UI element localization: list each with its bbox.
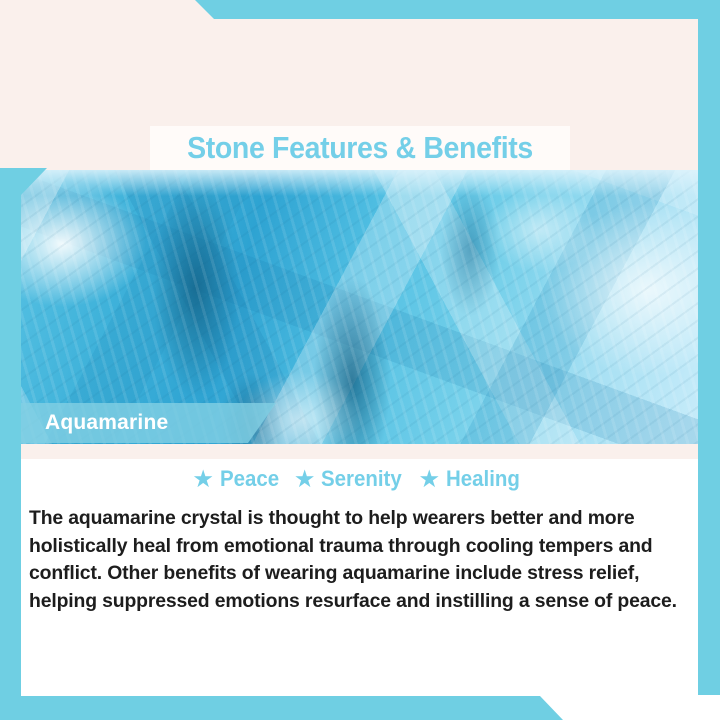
benefit-item-serenity: ★ Serenity <box>295 466 408 492</box>
section-separator <box>21 444 698 459</box>
frame-accent-bottom <box>0 696 720 720</box>
stone-name-band: Aquamarine <box>21 403 276 443</box>
benefit-label-serenity: Serenity <box>321 466 402 492</box>
page-title: Stone Features & Benefits <box>29 126 691 170</box>
crystal-hero-image: Aquamarine <box>0 170 720 444</box>
frame-accent-left <box>0 168 21 696</box>
hero-top-fade <box>0 170 720 196</box>
star-icon: ★ <box>420 469 439 490</box>
star-icon: ★ <box>295 469 314 490</box>
benefit-label-healing: Healing <box>446 466 520 492</box>
benefit-item-peace: ★ Peace <box>194 466 283 492</box>
star-icon: ★ <box>194 469 213 490</box>
stone-name-label: Aquamarine <box>21 411 168 435</box>
stone-description: The aquamarine crystal is thought to hel… <box>21 505 698 615</box>
benefit-item-healing: ★ Healing <box>420 466 525 492</box>
content-panel: ★ Peace ★ Serenity ★ Healing The aquamar… <box>21 459 698 696</box>
hero-sheen-overlay <box>0 170 720 444</box>
frame-accent-right <box>698 0 720 695</box>
stone-feature-poster: BUDDHA STONES Stone Features & Benefits … <box>0 0 720 720</box>
benefit-label-peace: Peace <box>220 466 279 492</box>
benefits-row: ★ Peace ★ Serenity ★ Healing <box>21 459 698 492</box>
